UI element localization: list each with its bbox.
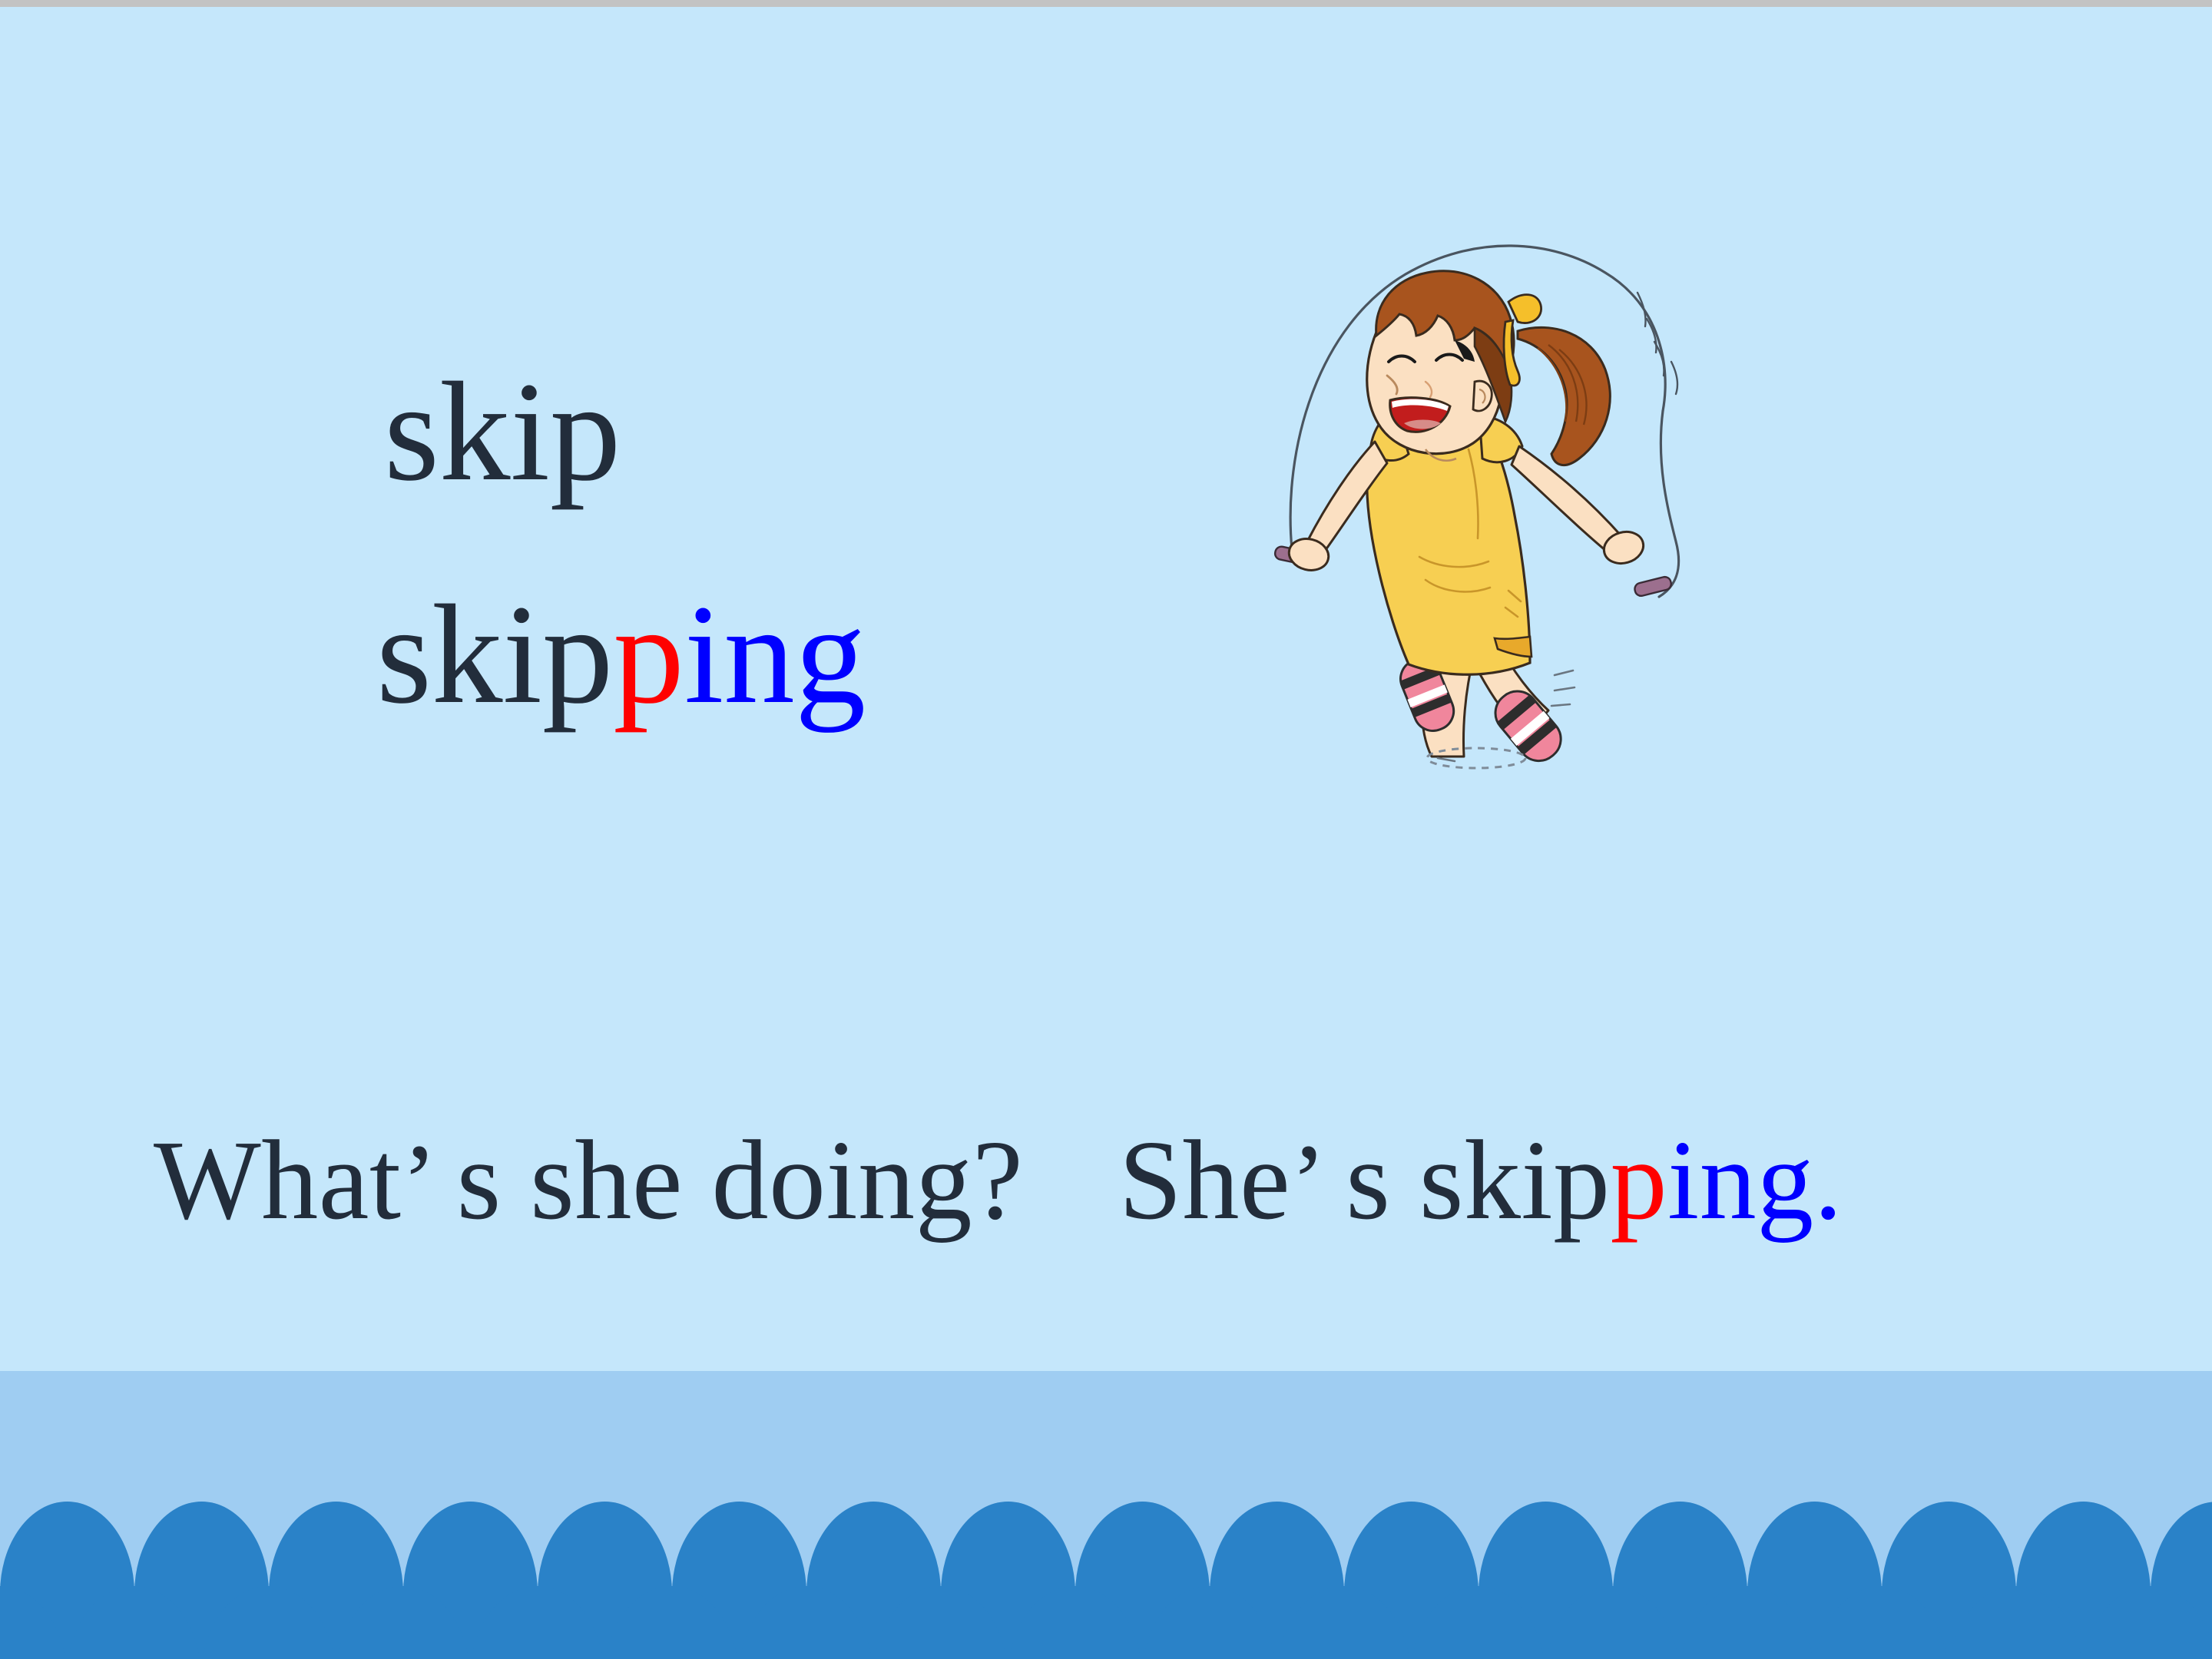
- bottom-decorative-band: [0, 1371, 2212, 1659]
- rope-handle-right-icon: [1634, 575, 1673, 597]
- arch-shape: [1814, 1586, 1949, 1659]
- arch-shape: [1680, 1586, 1814, 1659]
- arm-right: [1512, 446, 1647, 568]
- question-part1: What: [154, 1118, 402, 1243]
- arch-shape: [1949, 1586, 2083, 1659]
- word-skip: skip: [0, 361, 1075, 503]
- arch-shape: [0, 1586, 67, 1659]
- slide-canvas: skip skipping What’s she doing?She’s ski…: [0, 0, 2212, 1659]
- answer-part2: s skip: [1346, 1118, 1610, 1243]
- answer-apostrophe: ’: [1290, 1123, 1346, 1242]
- arch-row-front: [0, 1586, 2206, 1659]
- word-skipping-suffix: ing: [684, 576, 866, 733]
- arch-shape: [201, 1586, 336, 1659]
- arch-shape: [1411, 1586, 1545, 1659]
- top-edge-strip: [0, 0, 2212, 7]
- word-skipping-stem: skip: [376, 576, 613, 733]
- answer-part1: She: [1119, 1118, 1291, 1243]
- girl-skipping-rope-illustration: [1244, 219, 1736, 772]
- arch-shape: [336, 1586, 470, 1659]
- arch-shape: [1008, 1586, 1142, 1659]
- answer-suffix: ing: [1667, 1118, 1814, 1243]
- answer-period: .: [1814, 1118, 1843, 1243]
- answer-doubled-consonant: p: [1611, 1118, 1668, 1243]
- arch-shape: [739, 1586, 873, 1659]
- arch-shape: [2083, 1586, 2212, 1659]
- word-skip-text: skip: [384, 353, 621, 511]
- arch-shape: [604, 1586, 739, 1659]
- word-skipping: skipping: [0, 584, 1075, 726]
- arch-shape: [1277, 1586, 1411, 1659]
- word-skipping-doubled-consonant: p: [613, 576, 684, 733]
- question-part2: s she doing?: [457, 1118, 1024, 1243]
- arch-shape: [1142, 1586, 1277, 1659]
- vocabulary-block: skip skipping: [0, 361, 1075, 726]
- arch-shape: [1545, 1586, 1680, 1659]
- arch-shape: [67, 1586, 201, 1659]
- arch-shape: [873, 1586, 1008, 1659]
- question-apostrophe: ’: [402, 1123, 457, 1242]
- sentence-line: What’s she doing?She’s skipping.: [154, 1118, 2151, 1245]
- arch-shape: [470, 1586, 604, 1659]
